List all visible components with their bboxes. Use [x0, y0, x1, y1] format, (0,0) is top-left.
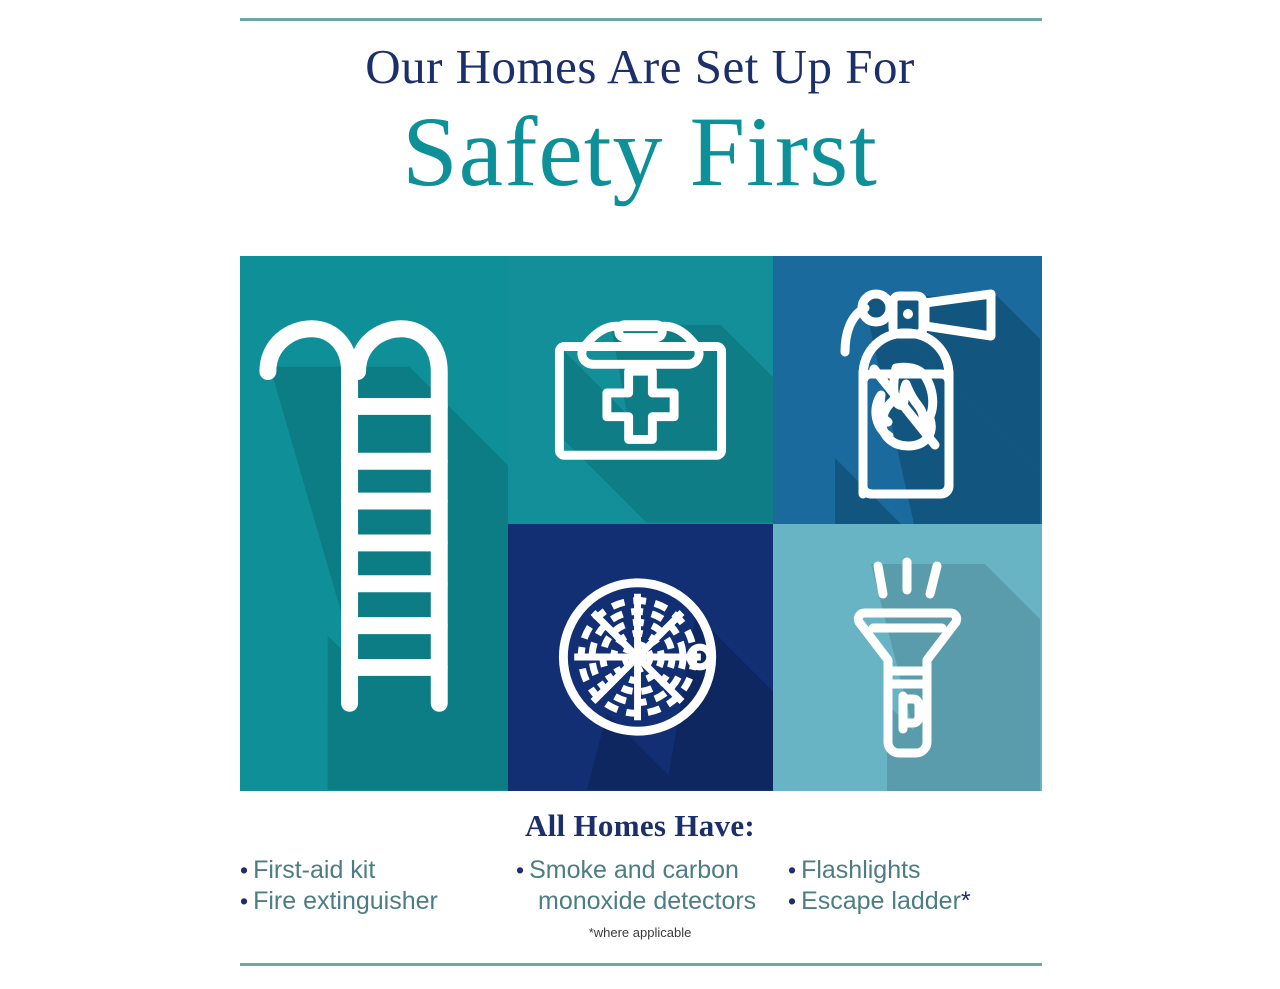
bullet-icon: •	[516, 857, 524, 883]
list-item: •Flashlights	[788, 855, 1042, 886]
list-column-3: •Flashlights •Escape ladder*	[788, 855, 1042, 917]
page-title: Our Homes Are Set Up For Safety First	[0, 38, 1280, 208]
footnote-marker: *	[961, 887, 971, 915]
list-column-1: •First-aid kit •Fire extinguisher	[240, 855, 510, 917]
bullet-icon: •	[788, 857, 796, 883]
list-item: •Fire extinguisher	[240, 886, 510, 917]
list-item-label: Flashlights	[801, 856, 921, 884]
list-item-label: First-aid kit	[253, 856, 375, 884]
bottom-divider-rule	[240, 963, 1042, 966]
icon-grid	[240, 256, 1042, 791]
list-item: •First-aid kit	[240, 855, 510, 886]
safety-infographic: Our Homes Are Set Up For Safety First	[0, 0, 1280, 989]
tile-flashlight	[773, 524, 1042, 791]
list-item-label: Smoke and carbon	[529, 856, 739, 884]
list-item-label: Fire extinguisher	[253, 887, 438, 915]
footnote: *where applicable	[0, 925, 1280, 940]
tile-fire-extinguisher	[773, 256, 1042, 524]
title-line-2: Safety First	[0, 96, 1280, 208]
tile-first-aid-kit	[508, 256, 773, 524]
first-aid-kit-shadow	[559, 325, 773, 523]
list-item: •Escape ladder*	[788, 886, 1042, 917]
title-line-1: Our Homes Are Set Up For	[0, 38, 1280, 96]
list-column-2: •Smoke and carbon monoxide detectors	[516, 855, 766, 917]
top-divider-rule	[240, 18, 1042, 21]
smoke-detector-icon	[563, 583, 711, 731]
bullet-icon: •	[240, 857, 248, 883]
tile-escape-ladder	[240, 256, 508, 791]
list-item-label-continued: monoxide detectors	[516, 886, 766, 917]
bullet-icon: •	[788, 888, 796, 914]
list-item: •Smoke and carbon monoxide detectors	[516, 855, 766, 917]
list-heading: All Homes Have:	[0, 808, 1280, 844]
list-item-label: Escape ladder	[801, 887, 961, 915]
all-homes-have-columns: •First-aid kit •Fire extinguisher •Smoke…	[240, 855, 1042, 925]
bullet-icon: •	[240, 888, 248, 914]
tile-smoke-detector	[508, 524, 773, 791]
